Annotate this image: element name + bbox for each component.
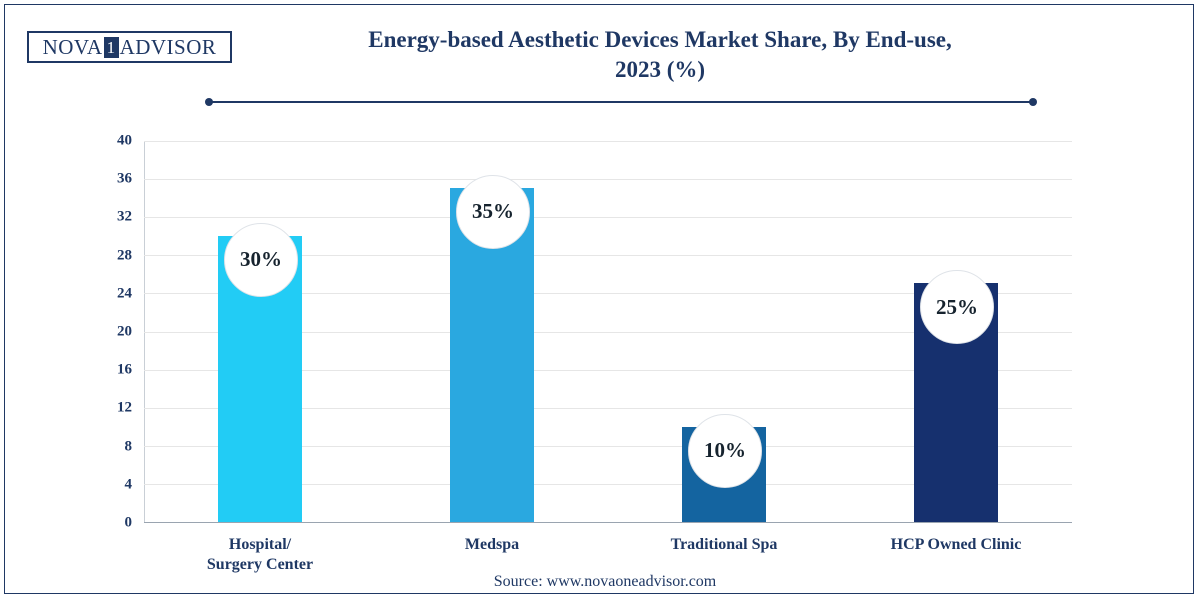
logo-text-part2: ADVISOR (120, 35, 217, 59)
y-axis-tick-label: 0 (92, 515, 132, 532)
y-axis-tick-label: 8 (92, 438, 132, 455)
y-axis-tick-label: 24 (92, 285, 132, 302)
x-axis-tick-label-line: Traditional Spa (608, 535, 840, 555)
gridline (144, 179, 1072, 180)
x-axis-tick-label: Traditional Spa (608, 535, 840, 555)
bar-value-label: 25% (920, 270, 994, 344)
page-title-line2: 2023 (%) (245, 55, 1075, 85)
page-title: Energy-based Aesthetic Devices Market Sh… (245, 25, 1075, 85)
logo-badge: 1 (104, 37, 119, 58)
divider-line (209, 101, 1033, 103)
bar-value-label: 35% (456, 175, 530, 249)
plot-area: 30%35%10%25% (144, 141, 1072, 523)
y-axis-tick-label: 16 (92, 362, 132, 379)
logo-text: NOVA1ADVISOR (43, 35, 217, 60)
x-axis-tick-label: Medspa (376, 535, 608, 555)
x-axis-tick-label-line: Hospital/ (144, 535, 376, 555)
x-axis-tick-label: HCP Owned Clinic (840, 535, 1072, 555)
bar-value-label: 10% (688, 414, 762, 488)
title-divider (205, 98, 1037, 106)
x-axis-tick-label-line: Surgery Center (144, 555, 376, 575)
y-axis-tick-label: 40 (92, 133, 132, 150)
x-axis-tick-label: Hospital/Surgery Center (144, 535, 376, 575)
chart-frame: NOVA1ADVISOR Energy-based Aesthetic Devi… (4, 4, 1194, 594)
x-axis-line (144, 522, 1072, 523)
gridline (144, 141, 1072, 142)
logo-text-part1: NOVA (43, 35, 103, 59)
x-axis-tick-label-line: Medspa (376, 535, 608, 555)
y-axis-tick-label: 4 (92, 476, 132, 493)
page-title-line1: Energy-based Aesthetic Devices Market Sh… (245, 25, 1075, 55)
y-axis-tick-label: 20 (92, 324, 132, 341)
y-axis-tick-label: 12 (92, 400, 132, 417)
x-axis-tick-label-line: HCP Owned Clinic (840, 535, 1072, 555)
logo: NOVA1ADVISOR (27, 31, 232, 63)
y-axis-tick-label: 32 (92, 209, 132, 226)
divider-dot-right (1029, 98, 1037, 106)
y-axis-tick-label: 28 (92, 247, 132, 264)
gridline (144, 217, 1072, 218)
source-note: Source: www.novaoneadvisor.com (5, 573, 1200, 591)
bar-value-label: 30% (224, 223, 298, 297)
y-axis-tick-label: 36 (92, 171, 132, 188)
